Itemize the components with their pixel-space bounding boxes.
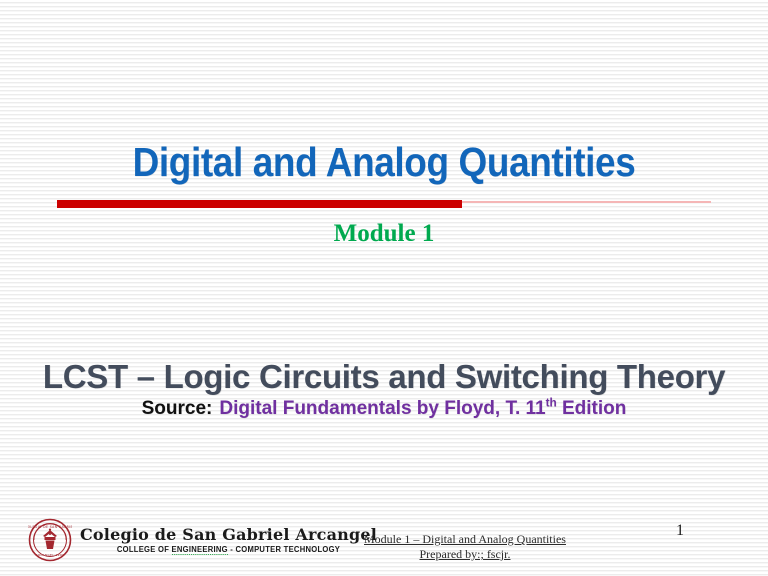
title-divider xyxy=(57,199,711,208)
course-title: LCST – Logic Circuits and Switching Theo… xyxy=(0,358,768,396)
school-seal-icon: COLEGIO DE SAN GABRIEL ARCANGEL 1993 xyxy=(28,518,72,562)
source-line: Source:Digital Fundamentals by Floyd, T.… xyxy=(0,398,768,420)
footer-line-module: Module 1 – Digital and Analog Quantities xyxy=(300,532,630,547)
slide-footer: COLEGIO DE SAN GABRIEL ARCANGEL 1993 Col… xyxy=(0,510,768,576)
source-value-suffix: Edition xyxy=(557,398,627,419)
module-subtitle-block: Module 1 xyxy=(0,220,768,248)
source-value-prefix: Digital Fundamentals by Floyd, T. 11 xyxy=(219,398,545,419)
source-value: Digital Fundamentals by Floyd, T. 11th E… xyxy=(219,398,626,419)
source-value-superscript: th xyxy=(546,397,557,410)
svg-text:ARCANGEL 1993: ARCANGEL 1993 xyxy=(36,553,64,557)
slide-title: Digital and Analog Quantities xyxy=(38,140,729,184)
department-prefix: COLLEGE OF xyxy=(117,545,172,554)
footer-line-prepared-by: Prepared by:; fscjr. xyxy=(300,547,630,562)
slide-canvas: Digital and Analog Quantities Module 1 L… xyxy=(0,0,768,576)
course-block: LCST – Logic Circuits and Switching Theo… xyxy=(0,358,768,420)
module-subtitle: Module 1 xyxy=(334,220,435,247)
source-label: Source: xyxy=(142,398,213,419)
divider-thin-segment xyxy=(462,201,711,203)
footer-center-text: Module 1 – Digital and Analog Quantities… xyxy=(300,532,630,562)
page-number: 1 xyxy=(676,522,684,540)
department-spellchecked-word: ENGINEERING xyxy=(172,545,228,555)
title-block: Digital and Analog Quantities xyxy=(0,140,768,184)
divider-thick-segment xyxy=(57,200,462,208)
